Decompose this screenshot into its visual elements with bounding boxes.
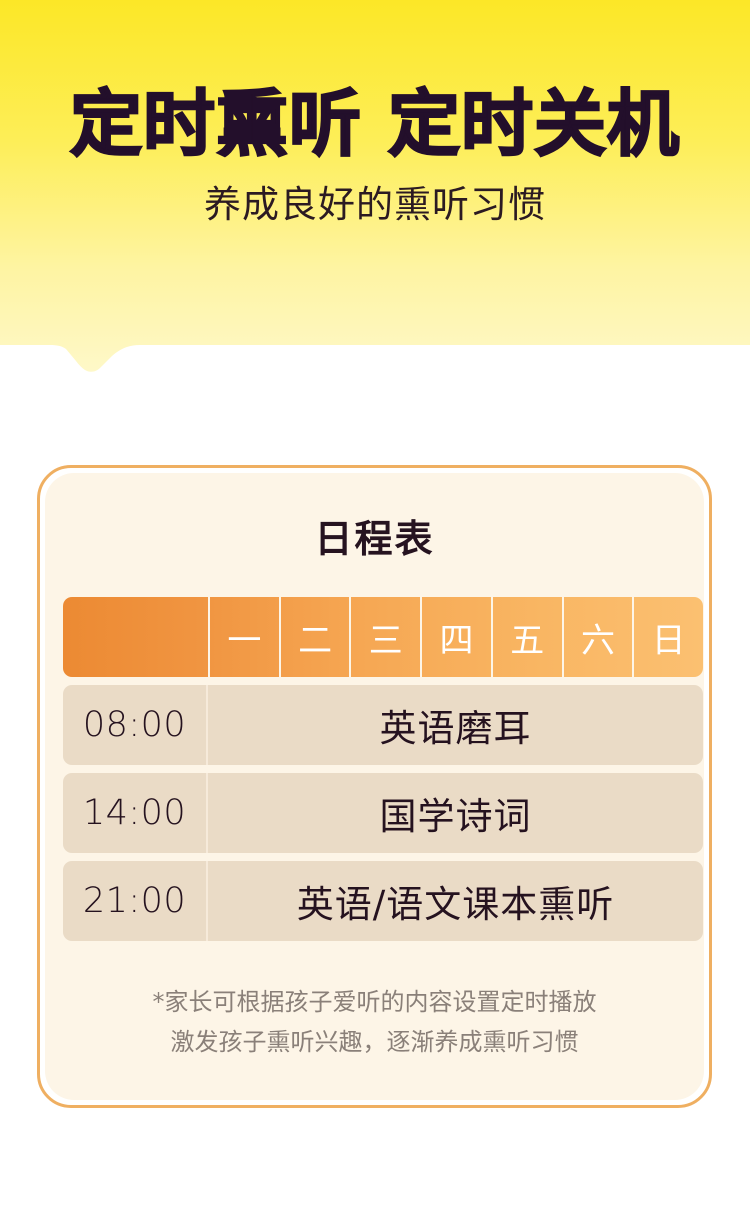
schedule-row-content: 国学诗词: [208, 773, 703, 853]
schedule-header-day-fri: 五: [491, 597, 562, 677]
schedule-row-content: 英语/语文课本熏听: [208, 861, 703, 941]
schedule-table-header-row: 一 二 三 四 五 六 日: [63, 597, 703, 677]
schedule-row-time: 21:00: [63, 861, 208, 941]
schedule-card: 日程表 一 二 三 四 五 六 日 08:00 英语磨耳 14:00 国学诗词: [37, 465, 712, 1108]
schedule-header-day-sat: 六: [562, 597, 633, 677]
schedule-row-content: 英语磨耳: [208, 685, 703, 765]
schedule-header-day-sun: 日: [632, 597, 703, 677]
hero-title: 定时熏听 定时关机: [0, 0, 750, 160]
hero-banner: 定时熏听 定时关机 养成良好的熏听习惯: [0, 0, 750, 390]
table-row: 14:00 国学诗词: [63, 773, 703, 853]
schedule-card-title: 日程表: [45, 473, 704, 558]
schedule-header-day-mon: 一: [208, 597, 279, 677]
schedule-row-time: 08:00: [63, 685, 208, 765]
schedule-header-day-tue: 二: [279, 597, 350, 677]
schedule-header-day-thu: 四: [420, 597, 491, 677]
schedule-footnote: *家长可根据孩子爱听的内容设置定时播放 激发孩子熏听兴趣，逐渐养成熏听习惯: [45, 983, 704, 1062]
schedule-card-surface: 日程表 一 二 三 四 五 六 日 08:00 英语磨耳 14:00 国学诗词: [45, 473, 704, 1100]
schedule-header-corner-cell: [63, 597, 208, 677]
table-row: 08:00 英语磨耳: [63, 685, 703, 765]
hero-text-block: 定时熏听 定时关机 养成良好的熏听习惯: [0, 0, 750, 223]
schedule-row-time: 14:00: [63, 773, 208, 853]
schedule-header-day-wed: 三: [349, 597, 420, 677]
schedule-footnote-line-1: *家长可根据孩子爱听的内容设置定时播放: [45, 983, 704, 1023]
hero-subtitle: 养成良好的熏听习惯: [0, 160, 750, 223]
schedule-footnote-line-2: 激发孩子熏听兴趣，逐渐养成熏听习惯: [45, 1023, 704, 1063]
table-row: 21:00 英语/语文课本熏听: [63, 861, 703, 941]
schedule-table: 一 二 三 四 五 六 日 08:00 英语磨耳 14:00 国学诗词 21:0…: [63, 597, 703, 941]
